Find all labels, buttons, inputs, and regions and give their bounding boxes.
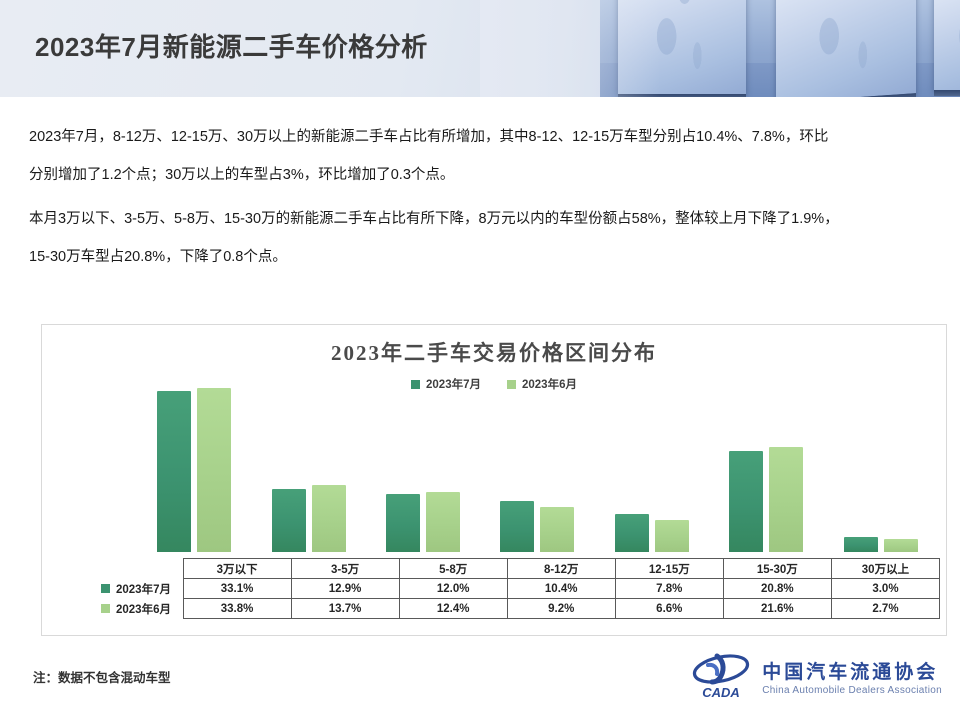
cube-icon	[934, 0, 960, 90]
table-header-row: 3万以下 3-5万 5-8万 8-12万 12-15万 15-30万 30万以上	[95, 559, 940, 579]
series-name: 2023年6月	[116, 601, 171, 617]
table-cell: 21.6%	[723, 599, 831, 619]
table-column-header: 5-8万	[399, 559, 507, 579]
series-name: 2023年7月	[116, 581, 171, 597]
page-header: 2023年7月新能源二手车价格分析	[0, 0, 960, 97]
bar-july[interactable]	[844, 537, 878, 552]
table-cell: 10.4%	[507, 579, 615, 599]
table-column-header: 8-12万	[507, 559, 615, 579]
table-column-header: 12-15万	[615, 559, 723, 579]
table-cell: 12.9%	[291, 579, 399, 599]
chart-panel: 2023年二手车交易价格区间分布 2023年7月 2023年6月 3万以下	[41, 324, 947, 636]
series-swatch-icon	[101, 604, 110, 613]
paragraph-1-line-2: 分别增加了1.2个点；30万以上的车型占3%，环比增加了0.3个点。	[29, 156, 929, 194]
data-table: 3万以下 3-5万 5-8万 8-12万 12-15万 15-30万 30万以上…	[95, 558, 940, 619]
table-corner-cell	[95, 559, 183, 579]
bar-june[interactable]	[769, 447, 803, 552]
organization-logo: CADA 中国汽车流通协会 China Automobile Dealers A…	[690, 652, 942, 700]
table-cell: 20.8%	[723, 579, 831, 599]
table-row-label-june: 2023年6月	[95, 599, 183, 619]
logo-text-block: 中国汽车流通协会 China Automobile Dealers Associ…	[762, 657, 942, 696]
table-cell: 12.4%	[399, 599, 507, 619]
bar-group	[137, 377, 251, 552]
paragraph-1-line-1: 2023年7月，8-12万、12-15万、30万以上的新能源二手车占比有所增加，…	[29, 118, 929, 156]
bar-july[interactable]	[157, 391, 191, 552]
logo-name-en: China Automobile Dealers Association	[762, 685, 942, 696]
footnote: 注：数据不包含混动车型	[33, 667, 171, 686]
table-cell: 33.8%	[183, 599, 291, 619]
chart-title: 2023年二手车交易价格区间分布	[42, 337, 946, 367]
series-swatch-icon	[101, 584, 110, 593]
bar-group	[824, 377, 938, 552]
bar-july[interactable]	[386, 494, 420, 552]
cada-emblem-svg: CADA	[690, 652, 752, 700]
table-cell: 9.2%	[507, 599, 615, 619]
cada-emblem-icon: CADA	[690, 652, 752, 700]
world-map-icon	[934, 0, 960, 90]
bar-group	[251, 377, 365, 552]
table-column-header: 3-5万	[291, 559, 399, 579]
table-cell: 2.7%	[831, 599, 939, 619]
bar-june[interactable]	[655, 520, 689, 552]
paragraph-2-line-2: 15-30万车型占20.8%，下降了0.8个点。	[29, 238, 929, 276]
logo-name-cn: 中国汽车流通协会	[762, 657, 942, 684]
bar-june[interactable]	[884, 539, 918, 552]
paragraph-2-line-1: 本月3万以下、3-5万、5-8万、15-30万的新能源二手车占比有所下降，8万元…	[29, 200, 929, 238]
table-row-label-july: 2023年7月	[95, 579, 183, 599]
table-column-header: 15-30万	[723, 559, 831, 579]
bar-group	[595, 377, 709, 552]
bar-july[interactable]	[615, 514, 649, 552]
svg-text:CADA: CADA	[702, 685, 740, 700]
cube-icon	[776, 0, 916, 97]
world-map-icon	[776, 0, 916, 97]
table-cell: 6.6%	[615, 599, 723, 619]
bar-group	[480, 377, 594, 552]
bar-june[interactable]	[540, 507, 574, 552]
page-title: 2023年7月新能源二手车价格分析	[35, 27, 428, 64]
body-text-block: 2023年7月，8-12万、12-15万、30万以上的新能源二手车占比有所增加，…	[29, 118, 929, 276]
slide-page: 2023年7月新能源二手车价格分析 2023年7月，8-12万、12-15万、3…	[0, 0, 960, 720]
bar-july[interactable]	[272, 489, 306, 552]
table-column-header: 30万以上	[831, 559, 939, 579]
bar-july[interactable]	[500, 501, 534, 552]
header-gradient-overlay	[480, 0, 660, 97]
table-cell: 12.0%	[399, 579, 507, 599]
table-row: 2023年6月 33.8% 13.7% 12.4% 9.2% 6.6% 21.6…	[95, 599, 940, 619]
table-cell: 7.8%	[615, 579, 723, 599]
table-cell: 13.7%	[291, 599, 399, 619]
bar-june[interactable]	[197, 388, 231, 552]
table-column-header: 3万以下	[183, 559, 291, 579]
table-cell: 3.0%	[831, 579, 939, 599]
bar-group	[366, 377, 480, 552]
bar-july[interactable]	[729, 451, 763, 552]
bar-june[interactable]	[426, 492, 460, 552]
bar-group	[709, 377, 823, 552]
table-cell: 33.1%	[183, 579, 291, 599]
bar-june[interactable]	[312, 485, 346, 552]
table-row: 2023年7月 33.1% 12.9% 12.0% 10.4% 7.8% 20.…	[95, 579, 940, 599]
bar-plot-area	[137, 377, 938, 552]
